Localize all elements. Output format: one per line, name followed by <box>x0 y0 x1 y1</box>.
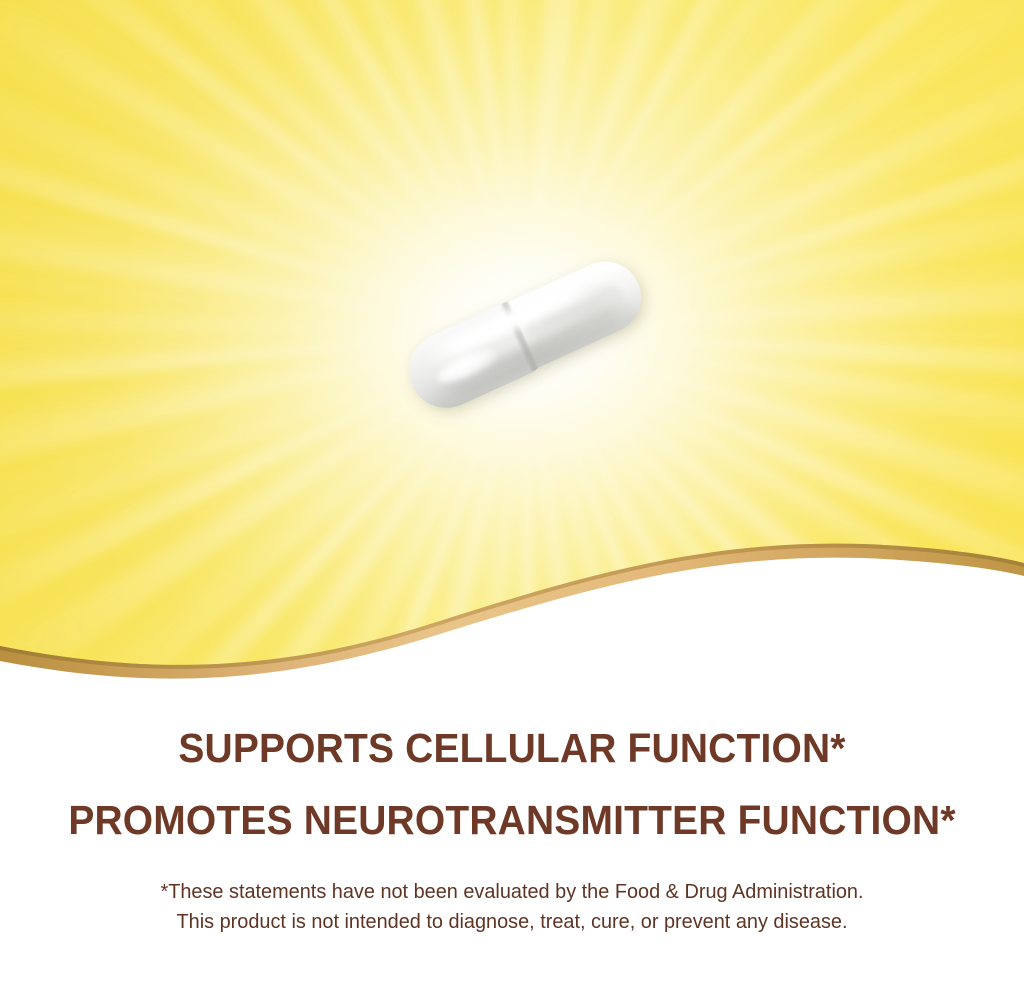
fda-disclaimer: *These statements have not been evaluate… <box>15 841 1008 937</box>
headline-promotes-neurotransmitter-function: PROMOTES NEUROTRANSMITTER FUNCTION* <box>26 769 999 841</box>
capsule-icon <box>397 250 653 418</box>
benefit-claims-block: SUPPORTS CELLULAR FUNCTION* PROMOTES NEU… <box>0 700 1024 937</box>
gold-wave-divider <box>0 520 1024 700</box>
capsule-product-image <box>393 262 657 402</box>
product-benefit-panel: SUPPORTS CELLULAR FUNCTION* PROMOTES NEU… <box>0 0 1024 991</box>
headline-supports-cellular-function: SUPPORTS CELLULAR FUNCTION* <box>26 700 999 769</box>
wave-white-fill <box>0 556 1024 700</box>
fda-disclaimer-line-2: This product is not intended to diagnose… <box>15 907 1008 937</box>
fda-disclaimer-line-1: *These statements have not been evaluate… <box>15 877 1008 907</box>
